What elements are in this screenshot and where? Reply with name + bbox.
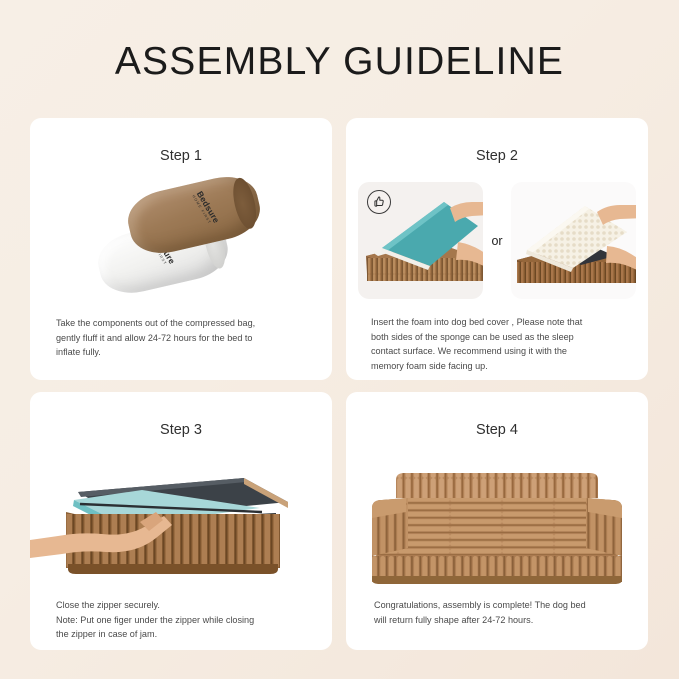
brown-rolled-bag: Bedsure HOME FIRST — [123, 170, 266, 260]
steps-grid: Step 1 Bedsure HOME FIRST Bedsure HOME F… — [30, 118, 649, 650]
zipper-closing-illustration — [30, 456, 332, 588]
step-2-caption: Insert the foam into dog bed cover , Ple… — [371, 315, 636, 374]
step-card-1: Step 1 Bedsure HOME FIRST Bedsure HOME F… — [30, 118, 332, 380]
or-separator: or — [491, 234, 502, 248]
foam-insertion-illustration: or — [346, 178, 648, 303]
step-3-caption: Close the zipper securely. Note: Put one… — [56, 598, 310, 642]
step-2-heading: Step 2 — [346, 118, 648, 164]
step-4-heading: Step 4 — [346, 392, 648, 438]
step-3-heading: Step 3 — [30, 392, 332, 438]
zipper-art — [30, 456, 332, 588]
thumbs-up-icon — [367, 190, 391, 214]
step-1-caption: Take the components out of the compresse… — [56, 316, 310, 360]
finished-bed-art — [346, 452, 648, 592]
step-1-heading: Step 1 — [30, 118, 332, 164]
assembly-guideline-page: ASSEMBLY GUIDELINE Step 1 Bedsure HOME F… — [0, 0, 679, 679]
step-card-2: Step 2 — [346, 118, 648, 380]
step-4-caption: Congratulations, assembly is complete! T… — [374, 598, 626, 627]
compressed-bags-illustration: Bedsure HOME FIRST Bedsure HOME FIRST — [30, 176, 332, 306]
teal-side-panel — [358, 182, 483, 299]
finished-dog-bed-illustration — [346, 452, 648, 592]
brand-label-brown: Bedsure HOME FIRST — [191, 189, 221, 227]
page-title: ASSEMBLY GUIDELINE — [0, 40, 679, 84]
memory-foam-panel — [511, 182, 636, 299]
step-card-4: Step 4 — [346, 392, 648, 650]
memory-foam-into-bed-art — [511, 182, 636, 299]
step-card-3: Step 3 — [30, 392, 332, 650]
